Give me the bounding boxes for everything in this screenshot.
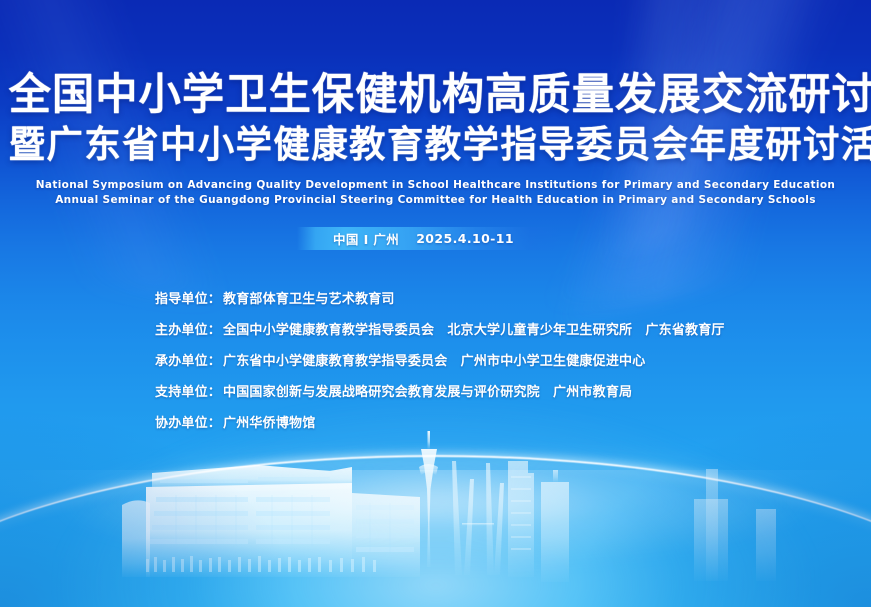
organizer-label: 支持单位： — [155, 381, 221, 400]
organizer-label: 协办单位： — [155, 412, 221, 431]
organizer-label: 指导单位： — [155, 288, 221, 307]
poster-content: 全国中小学卫生保健机构高质量发展交流研讨活动 暨广东省中小学健康教育教学指导委员… — [0, 0, 871, 607]
event-info-badge: 中国 I 广州 2025.4.10-11 — [297, 227, 562, 250]
title-line-primary: 全国中小学卫生保健机构高质量发展交流研讨活动 — [9, 74, 863, 117]
organizer-list: 指导单位： 教育部体育卫生与艺术教育司 主办单位： 全国中小学健康教育教学指导委… — [155, 288, 795, 443]
organizer-row: 承办单位： 广东省中小学健康教育教学指导委员会 广州市中小学卫生健康促进中心 — [155, 350, 795, 369]
title-line-secondary: 暨广东省中小学健康教育教学指导委员会年度研讨活动 — [9, 126, 863, 163]
subtitle-line-1: National Symposium on Advancing Quality … — [0, 178, 871, 193]
conference-poster: 全国中小学卫生保健机构高质量发展交流研讨活动 暨广东省中小学健康教育教学指导委员… — [0, 0, 871, 607]
english-subtitle: National Symposium on Advancing Quality … — [0, 178, 871, 208]
organizer-value: 广东省中小学健康教育教学指导委员会 广州市中小学卫生健康促进中心 — [223, 350, 645, 369]
organizer-value: 全国中小学健康教育教学指导委员会 北京大学儿童青少年卫生研究所 广东省教育厅 — [223, 319, 725, 338]
organizer-value: 广州华侨博物馆 — [223, 412, 315, 431]
organizer-row: 协办单位： 广州华侨博物馆 — [155, 412, 795, 431]
organizer-row: 主办单位： 全国中小学健康教育教学指导委员会 北京大学儿童青少年卫生研究所 广东… — [155, 319, 795, 338]
event-location: 中国 I 广州 — [333, 229, 399, 248]
organizer-row: 支持单位： 中国国家创新与发展战略研究会教育发展与评价研究院 广州市教育局 — [155, 381, 795, 400]
main-title: 全国中小学卫生保健机构高质量发展交流研讨活动 暨广东省中小学健康教育教学指导委员… — [0, 74, 871, 163]
subtitle-line-2: Annual Seminar of the Guangdong Provinci… — [0, 193, 871, 208]
badge-inner: 中国 I 广州 2025.4.10-11 — [333, 229, 514, 248]
organizer-value: 教育部体育卫生与艺术教育司 — [223, 288, 395, 307]
event-date: 2025.4.10-11 — [416, 231, 514, 246]
organizer-row: 指导单位： 教育部体育卫生与艺术教育司 — [155, 288, 795, 307]
organizer-value: 中国国家创新与发展战略研究会教育发展与评价研究院 广州市教育局 — [223, 381, 632, 400]
organizer-label: 承办单位： — [155, 350, 221, 369]
organizer-label: 主办单位： — [155, 319, 221, 338]
